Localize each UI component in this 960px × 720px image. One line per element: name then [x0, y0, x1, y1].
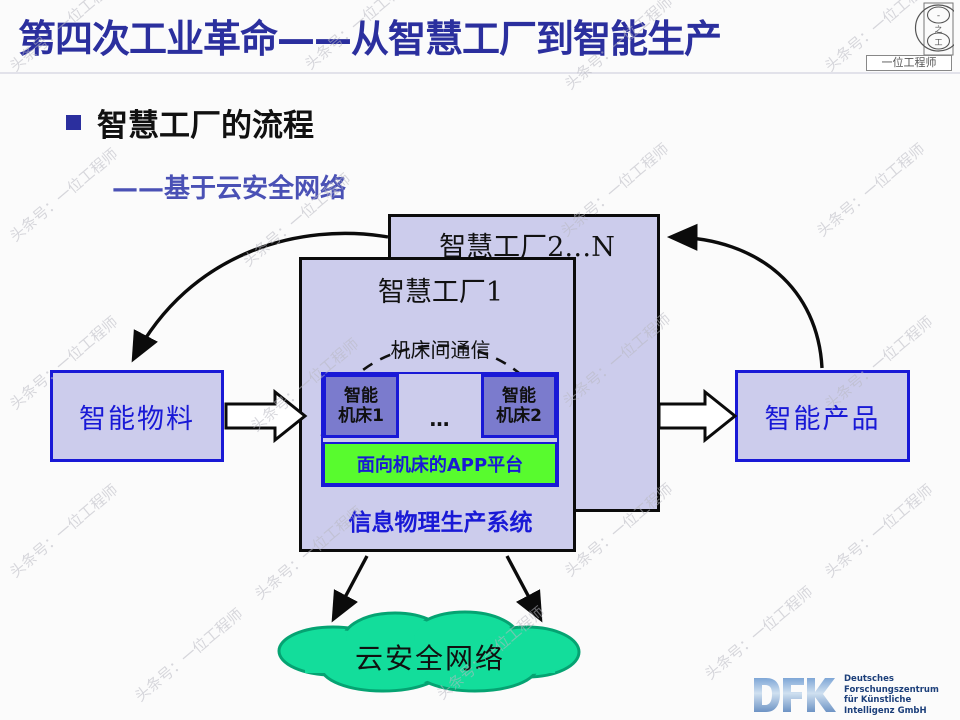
cps-label: 信息物理生产系统: [302, 503, 579, 537]
material-box[interactable]: 智能物料: [50, 370, 224, 462]
dfki-logo-mark: [752, 674, 838, 716]
factory-1-label: 智慧工厂1: [302, 270, 579, 309]
machine-ellipsis: …: [430, 407, 451, 431]
machine-box-2[interactable]: 智能 机床2: [481, 374, 557, 438]
machine-box-1[interactable]: 智能 机床1: [323, 374, 399, 438]
machine-2-line1: 智能: [502, 386, 536, 406]
machine-row: 智能 机床1 … 智能 机床2: [323, 374, 557, 442]
factory-1-box[interactable]: 智慧工厂1 机床间通信 智能 机床1 … 智能 机床2 面向机床的A: [299, 257, 576, 552]
machine-1-line1: 智能: [344, 386, 378, 406]
dfki-logo: Deutsches Forschungszentrum für Künstlic…: [752, 672, 952, 718]
machine-2-line2: 机床2: [496, 406, 542, 426]
machine-1-line2: 机床1: [338, 406, 384, 426]
machine-communication-label: 机床间通信: [302, 334, 579, 363]
dfki-logo-text: Deutsches Forschungszentrum für Künstlic…: [844, 674, 939, 716]
cloud-label: 云安全网络: [275, 637, 585, 677]
product-box[interactable]: 智能产品: [735, 370, 910, 462]
app-platform-box[interactable]: 面向机床的APP平台: [323, 442, 557, 485]
cps-inner-container: 智能 机床1 … 智能 机床2 面向机床的APP平台: [321, 372, 559, 487]
slide-canvas: 第四次工业革命——从智慧工厂到智能生产 - 之 工 一位工程师 智慧工厂的流程 …: [0, 0, 960, 720]
cloud-shape[interactable]: 云安全网络: [275, 607, 585, 699]
flow-diagram: 智慧工厂2…N 智慧工厂1 机床间通信 智能 机床1 … 智能 机床2: [0, 0, 960, 720]
